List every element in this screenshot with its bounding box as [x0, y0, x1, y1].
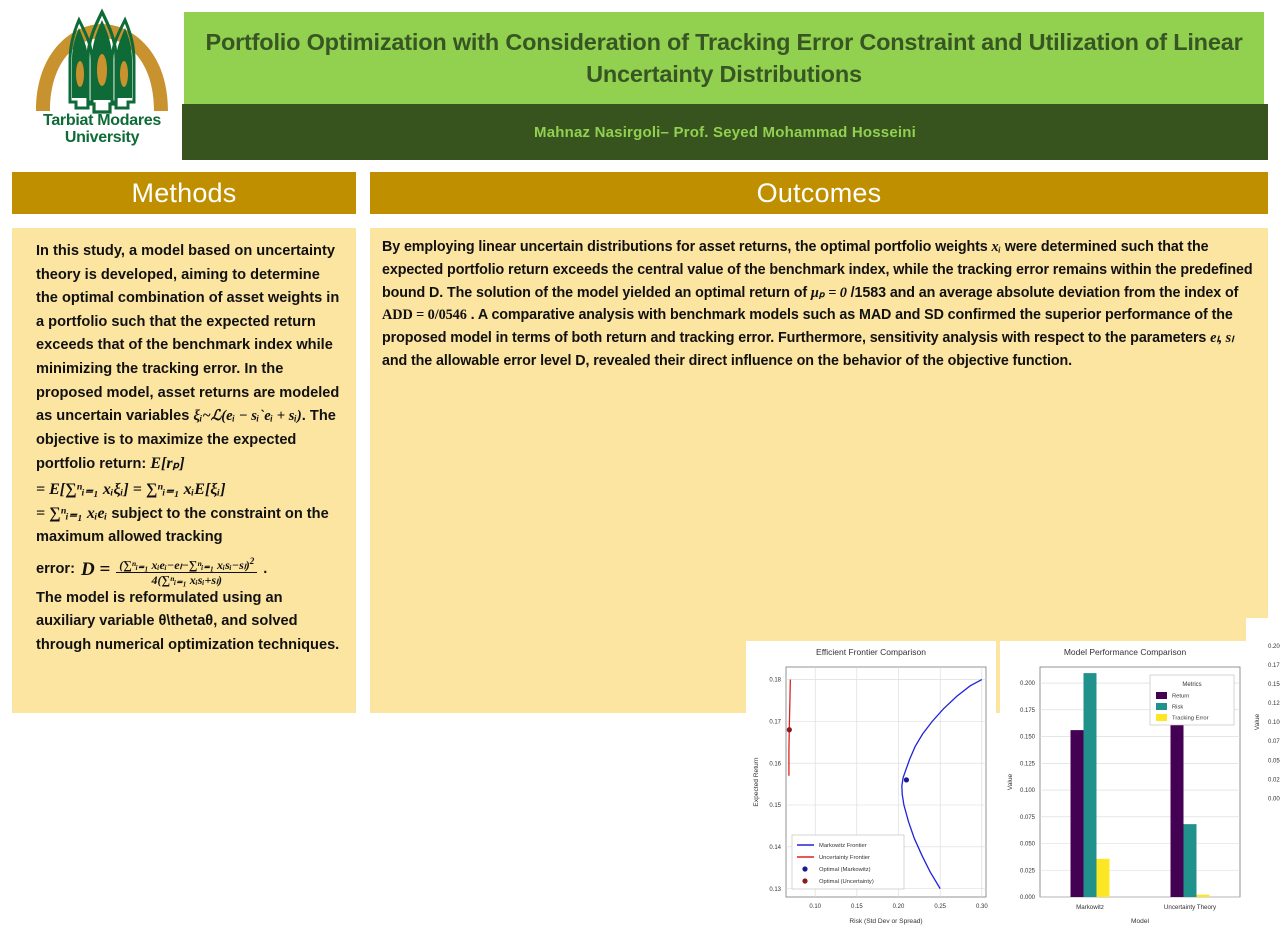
logo-text-line2: University — [22, 129, 182, 146]
methods-equation-D-numerator: (∑ⁿᵢ₌₁ xᵢeᵢ−eₗ−∑ⁿᵢ₌₁ xᵢsᵢ−sₗ)2 — [116, 554, 257, 573]
y-tick-label: 0.075 — [1020, 815, 1036, 821]
outcomes-symbol-params: eₗ, sₗ — [1210, 330, 1233, 346]
methods-equation-xi: ξᵢ~ℒ(eᵢ − sᵢˋeᵢ + sᵢ) — [193, 408, 301, 424]
legend-label: Tracking Error — [1172, 716, 1209, 722]
x-tick-label: Markowitz — [1076, 904, 1104, 911]
methods-equation-D-denominator: 4(∑ⁿᵢ₌₁ xᵢsᵢ+sₗ) — [116, 573, 257, 587]
methods-equation-return-3: = ∑ⁿᵢ₌₁ xᵢeᵢ — [36, 505, 107, 522]
methods-error-label: error: — [36, 558, 75, 582]
outcomes-text-a: By employing linear uncertain distributi… — [382, 239, 992, 255]
y-axis-label: Value — [1254, 713, 1261, 730]
x-axis-label: Risk (Std Dev or Spread) — [849, 918, 922, 925]
x-tick-label: Uncertainty Theory — [1164, 904, 1217, 911]
outcomes-symbol-mu: μₚ = 0 — [811, 285, 847, 301]
outcomes-symbol-add: ADD = 0/0546 — [382, 307, 467, 323]
methods-equation-D-exponent: 2 — [250, 556, 255, 566]
methods-paragraph-1: In this study, a model based on uncertai… — [36, 243, 339, 424]
x-axis-label: Model — [1131, 918, 1149, 925]
outcomes-text-d: . A comparative analysis with benchmark … — [382, 307, 1233, 346]
marker-optimal-markowitz- — [904, 777, 909, 782]
authors-bar: Mahnaz Nasirgoli– Prof. Seyed Mohammad H… — [182, 104, 1268, 160]
outcomes-text-e: and the allowable error level D, reveale… — [382, 353, 1072, 369]
bar-markowitz-tracking-error — [1097, 859, 1110, 897]
chart-risk-measures-vs-d-svg: 0.0500.0520.0540.0560.0580.0000.0250.050… — [1246, 634, 1280, 840]
section-header-methods: Methods — [12, 172, 356, 214]
y-tick-label: 0.18 — [769, 678, 781, 684]
x-tick-label: 0.15 — [851, 904, 863, 910]
legend-label: Optimal (Uncertainty) — [819, 879, 874, 885]
y-tick-label: 0.025 — [1268, 777, 1280, 783]
methods-equation-return-2: = E[∑ⁿᵢ₌₁ xᵢξᵢ] = ∑ⁿᵢ₌₁ xᵢE[ξᵢ] — [36, 478, 342, 502]
legend-label: Risk — [1172, 705, 1183, 711]
bar-markowitz-return — [1071, 730, 1084, 897]
y-tick-label: 0.150 — [1020, 735, 1036, 741]
page-title: Portfolio Optimization with Consideratio… — [184, 26, 1264, 90]
logo-text-line1: Tarbiat Modares — [22, 112, 182, 129]
y-tick-label: 0.125 — [1268, 701, 1280, 707]
section-header-outcomes: Outcomes — [370, 172, 1268, 214]
y-tick-label: 0.000 — [1020, 895, 1036, 901]
chart-model-performance-svg: 0.0000.0250.0500.0750.1000.1250.1500.175… — [1000, 657, 1250, 943]
y-tick-label: 0.050 — [1020, 842, 1036, 848]
x-tick-label: 0.30 — [976, 904, 988, 910]
chart-efficient-frontier-svg: 0.100.150.200.250.300.130.140.150.160.17… — [746, 657, 996, 943]
y-tick-label: 0.14 — [769, 845, 781, 851]
methods-equation-D-numerator-text: (∑ⁿᵢ₌₁ xᵢeᵢ−eₗ−∑ⁿᵢ₌₁ xᵢsᵢ−sₗ) — [119, 558, 249, 572]
y-axis-label: Expected Return — [753, 757, 760, 806]
chart-efficient-frontier: Efficient Frontier Comparison 0.100.150.… — [746, 641, 996, 944]
y-axis-label: Value — [1007, 773, 1014, 790]
bar-uncertainty-theory-return — [1171, 717, 1184, 897]
authors: Mahnaz Nasirgoli– Prof. Seyed Mohammad H… — [534, 124, 916, 141]
y-tick-label: 0.15 — [769, 803, 781, 809]
y-tick-label: 0.100 — [1268, 720, 1280, 726]
bar-markowitz-risk — [1084, 673, 1097, 897]
outcomes-body: By employing linear uncertain distributi… — [382, 236, 1256, 373]
x-tick-label: 0.20 — [893, 904, 905, 910]
poster-title-bar: Portfolio Optimization with Consideratio… — [184, 12, 1264, 104]
bar-uncertainty-theory-tracking-error — [1197, 895, 1210, 897]
logo-mark-icon — [22, 8, 182, 116]
poster-header: Tarbiat Modares University Portfolio Opt… — [0, 0, 1280, 162]
y-tick-label: 0.100 — [1020, 788, 1036, 794]
chart-model-performance: Model Performance Comparison 0.0000.0250… — [1000, 641, 1250, 944]
outcomes-symbol-x: xᵢ — [992, 239, 1001, 255]
methods-paragraph-4: The model is reformulated using an auxil… — [36, 590, 339, 653]
section-header-methods-label: Methods — [132, 178, 237, 209]
marker-optimal-uncertainty- — [787, 727, 792, 732]
y-tick-label: 0.13 — [769, 887, 781, 893]
y-tick-label: 0.200 — [1268, 644, 1280, 650]
outcomes-text-c: /1583 and an average absolute deviation … — [851, 285, 1239, 301]
section-header-outcomes-label: Outcomes — [757, 178, 882, 209]
methods-equation-return-1: E[rₚ] — [150, 455, 184, 472]
methods-body: In this study, a model based on uncertai… — [12, 228, 356, 666]
methods-equation-D-period: . — [263, 558, 267, 582]
y-tick-label: 0.175 — [1268, 663, 1280, 669]
chart-risk-measures-vs-d-title: Comparison of Risk Measures and Objectiv… — [1246, 618, 1280, 634]
legend-title: Metrics — [1182, 682, 1201, 688]
y-tick-label: 0.16 — [769, 761, 781, 767]
chart-model-performance-title: Model Performance Comparison — [1000, 641, 1250, 657]
y-tick-label: 0.150 — [1268, 682, 1280, 688]
legend-label: Optimal (Markowitz) — [819, 867, 871, 873]
bar-uncertainty-theory-risk — [1184, 824, 1197, 897]
y-tick-label: 0.17 — [769, 720, 781, 726]
x-tick-label: 0.25 — [934, 904, 946, 910]
y-tick-label: 0.075 — [1268, 739, 1280, 745]
y-tick-label: 0.125 — [1020, 761, 1036, 767]
methods-equation-D-lhs: D = — [81, 558, 110, 582]
outcomes-panel: By employing linear uncertain distributi… — [370, 228, 1268, 713]
methods-error-equation-row: error: D = (∑ⁿᵢ₌₁ xᵢeᵢ−eₗ−∑ⁿᵢ₌₁ xᵢsᵢ−sₗ)… — [36, 554, 342, 587]
university-logo: Tarbiat Modares University — [22, 8, 182, 160]
legend-label: Uncertainty Frontier — [819, 855, 870, 861]
y-tick-label: 0.000 — [1268, 796, 1280, 802]
y-tick-label: 0.025 — [1020, 868, 1036, 874]
y-tick-label: 0.050 — [1268, 758, 1280, 764]
chart-risk-measures-vs-d: Comparison of Risk Measures and Objectiv… — [1246, 618, 1280, 840]
y-tick-label: 0.200 — [1020, 681, 1036, 687]
logo-text: Tarbiat Modares University — [22, 112, 182, 146]
legend-label: Return — [1172, 694, 1189, 700]
y-tick-label: 0.175 — [1020, 708, 1036, 714]
methods-equation-D-fraction: (∑ⁿᵢ₌₁ xᵢeᵢ−eₗ−∑ⁿᵢ₌₁ xᵢsᵢ−sₗ)2 4(∑ⁿᵢ₌₁ x… — [116, 554, 257, 587]
legend-label: Markowitz Frontier — [819, 843, 867, 849]
x-tick-label: 0.10 — [809, 904, 821, 910]
chart-efficient-frontier-title: Efficient Frontier Comparison — [746, 641, 996, 657]
methods-panel: In this study, a model based on uncertai… — [12, 228, 356, 713]
